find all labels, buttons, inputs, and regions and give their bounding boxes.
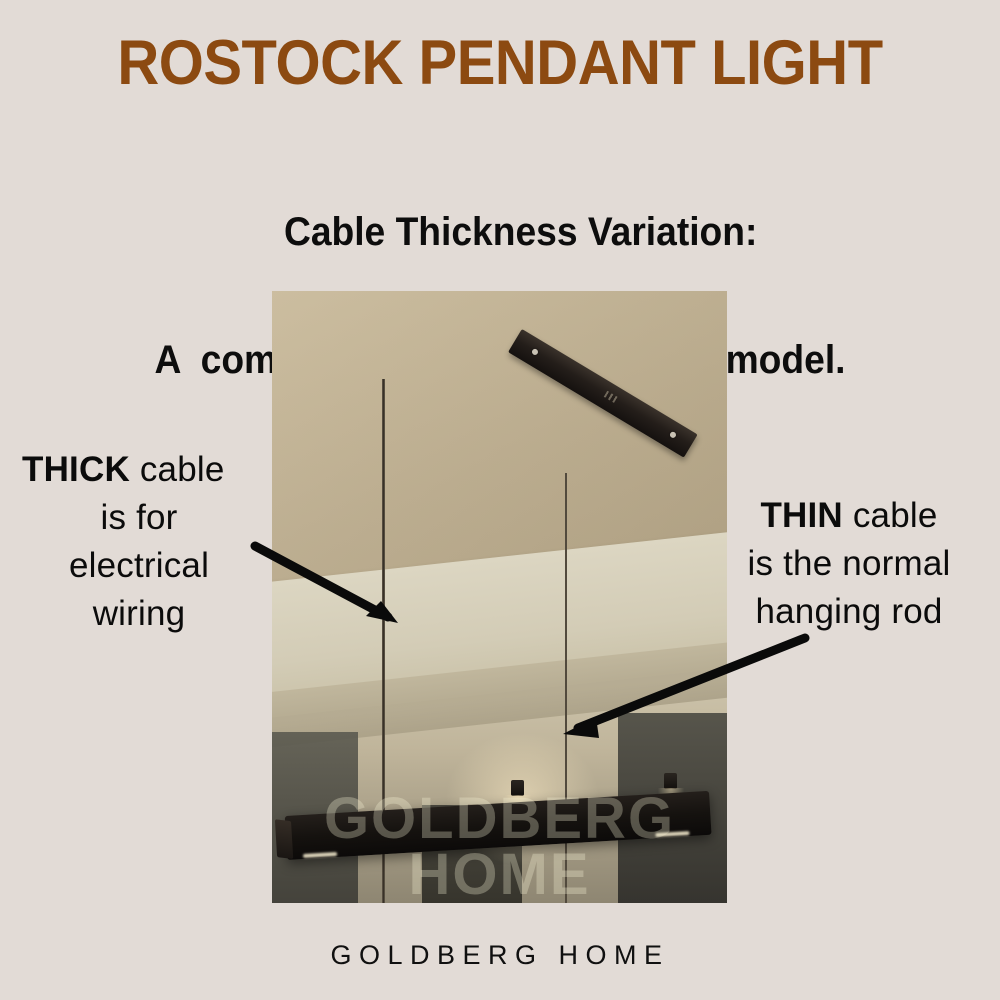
ceiling-spot-light-icon	[511, 780, 524, 796]
annotation-thin-rest: cable	[843, 496, 938, 535]
mount-screw-icon	[531, 348, 539, 356]
pendant-end-cap	[275, 819, 293, 859]
annotation-thin-cable: THIN cable is the normal hanging rod	[714, 492, 984, 636]
mount-bar-label-marks	[604, 391, 618, 403]
annotation-thick-emphasis: THICK	[22, 450, 130, 489]
annotation-thick-rest: cable	[130, 450, 225, 489]
annotation-thick-line-4: wiring	[93, 594, 186, 633]
annotation-thin-line-3: hanging rod	[755, 592, 942, 631]
page-title: ROSTOCK PENDANT LIGHT	[40, 32, 960, 95]
annotation-thick-line-3: electrical	[69, 546, 209, 585]
product-photo: GOLDBERG HOME	[272, 291, 727, 903]
annotation-thick-cable: THICK cable is for electrical wiring	[14, 446, 264, 638]
pendant-light-glow	[655, 831, 689, 837]
annotation-thin-emphasis: THIN	[760, 496, 842, 535]
ceiling-spot-light-icon	[664, 773, 677, 789]
annotation-thick-line-1: THICK cable	[22, 446, 264, 494]
pendant-light-glow	[303, 852, 337, 858]
infographic-canvas: ROSTOCK PENDANT LIGHT Cable Thickness Va…	[0, 0, 1000, 1000]
brand-footer: GOLDBERG HOME	[0, 940, 1000, 971]
annotation-thin-line-1: THIN cable	[760, 496, 937, 535]
subtitle-line-1: Cable Thickness Variation:	[284, 210, 757, 254]
annotation-thick-line-2: is for	[100, 498, 177, 537]
mount-screw-icon	[669, 431, 677, 439]
annotation-thin-line-2: is the normal	[748, 544, 951, 583]
